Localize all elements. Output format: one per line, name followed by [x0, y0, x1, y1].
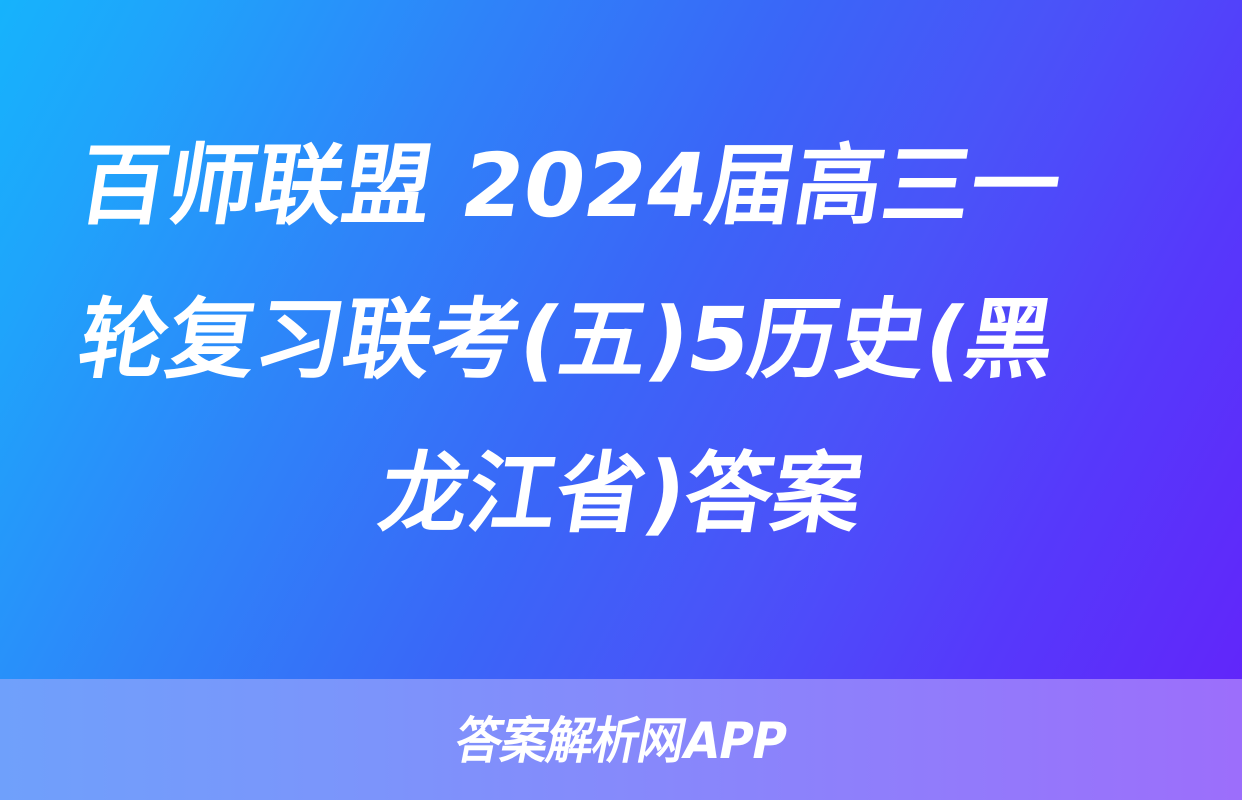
- title-line-3: 龙江省)答案: [54, 417, 1188, 571]
- title-line-2: 轮复习联考(五)5历史(黑: [54, 263, 1188, 417]
- title-line-1: 百师联盟 2024届高三一: [54, 109, 1188, 263]
- poster-canvas: 百师联盟 2024届高三一 轮复习联考(五)5历史(黑 龙江省)答案 答案解析网…: [0, 0, 1242, 800]
- page-title: 百师联盟 2024届高三一 轮复习联考(五)5历史(黑 龙江省)答案: [62, 109, 1180, 571]
- brand-watermark: 答案解析网APP: [452, 716, 791, 766]
- hero-gradient-banner: 百师联盟 2024届高三一 轮复习联考(五)5历史(黑 龙江省)答案: [0, 0, 1242, 679]
- footer-brand-band: 答案解析网APP: [0, 679, 1242, 800]
